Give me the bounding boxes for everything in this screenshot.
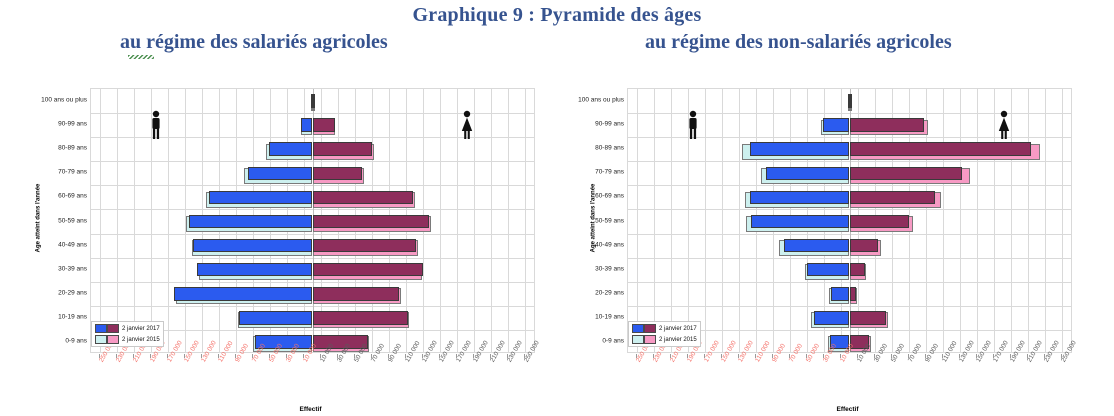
- bar-row: [91, 282, 534, 306]
- bar-male-2017: [750, 142, 850, 155]
- bar-row: [628, 282, 1071, 306]
- y-axis-label: 90-99 ans: [595, 121, 624, 128]
- bar-row: [628, 209, 1071, 233]
- x-axis-title: Effectif: [837, 406, 859, 413]
- y-axis-label: 100 ans ou plus: [578, 97, 624, 104]
- bar-female-2017: [313, 215, 430, 228]
- bar-female-2017: [313, 239, 417, 252]
- bar-female-2017: [850, 118, 925, 131]
- male-figure-icon: [685, 110, 701, 140]
- bar-female-2017: [313, 118, 335, 131]
- bar-female-2017: [850, 287, 857, 300]
- y-axis-label: 20-29 ans: [595, 289, 624, 296]
- legend-swatch: [95, 324, 119, 333]
- legend-item[interactable]: 2 janvier 2015: [95, 335, 160, 344]
- bar-male-2017: [248, 167, 313, 180]
- y-axis-label: 30-39 ans: [595, 265, 624, 272]
- bar-female-2017: [850, 142, 1031, 155]
- chart-panel-non-salaries: 100 ans ou plus90-99 ans80-89 ans70-79 a…: [557, 78, 1114, 416]
- bar-female-2017: [850, 239, 879, 252]
- y-axis-label: 80-89 ans: [595, 145, 624, 152]
- y-axis-label: 30-39 ans: [58, 265, 87, 272]
- x-axis-title: Effectif: [300, 406, 322, 413]
- y-axis-label: 50-59 ans: [58, 217, 87, 224]
- bar-female-2017: [850, 263, 865, 276]
- male-figure-icon: [148, 110, 164, 140]
- bar-male-2017: [751, 215, 850, 228]
- bar-male-2017: [209, 191, 313, 204]
- legend-label: 2 janvier 2015: [122, 337, 160, 343]
- bar-male-2017: [269, 142, 312, 155]
- y-axis-label: 60-69 ans: [58, 193, 87, 200]
- bar-female-2017: [313, 191, 414, 204]
- bar-row: [91, 137, 534, 161]
- y-axis-label: 0-9 ans: [65, 337, 87, 344]
- bar-female-2017: [850, 94, 852, 107]
- legend-item[interactable]: 2 janvier 2017: [95, 324, 160, 333]
- bar-row: [91, 185, 534, 209]
- legend-swatch: [95, 335, 119, 344]
- bar-male-2017: [197, 263, 312, 276]
- bar-male-2017: [239, 311, 312, 324]
- bar-female-2017: [850, 215, 910, 228]
- spellcheck-squiggle: [128, 55, 154, 59]
- female-figure-icon: [996, 110, 1012, 140]
- bar-male-2017: [807, 263, 850, 276]
- bar-female-2017: [313, 167, 362, 180]
- chart-title-block: Graphique 9 : Pyramide des âges au régim…: [0, 4, 1114, 59]
- bar-male-2017: [823, 118, 849, 131]
- bar-male-2017: [301, 118, 313, 131]
- bar-row: [91, 234, 534, 258]
- bar-male-2017: [814, 311, 850, 324]
- y-axis-label: 70-79 ans: [58, 169, 87, 176]
- bar-female-2017: [313, 311, 408, 324]
- chart-legend[interactable]: 2 janvier 20172 janvier 2015: [91, 321, 164, 347]
- subtitle-row: au régime des salariés agricoles au régi…: [0, 31, 1114, 59]
- chart-panel-salaries: 100 ans ou plus90-99 ans80-89 ans70-79 a…: [0, 78, 557, 416]
- bar-female-2017: [850, 191, 935, 204]
- y-axis-label: 20-29 ans: [58, 289, 87, 296]
- y-axis-title: Age atteint dans l'année: [590, 183, 596, 252]
- y-axis-title: Age atteint dans l'année: [35, 183, 41, 252]
- y-axis-label: 80-89 ans: [58, 145, 87, 152]
- bar-female-2017: [850, 167, 962, 180]
- y-axis-label: 10-19 ans: [595, 313, 624, 320]
- y-axis-label: 60-69 ans: [595, 193, 624, 200]
- bar-male-2017: [189, 215, 313, 228]
- bar-female-2017: [313, 142, 373, 155]
- bar-male-2017: [193, 239, 312, 252]
- subtitle-left: au régime des salariés agricoles: [120, 31, 388, 54]
- y-axis-label: 10-19 ans: [58, 313, 87, 320]
- bar-female-2017: [850, 311, 887, 324]
- y-axis-label: 90-99 ans: [58, 121, 87, 128]
- bar-row: [91, 161, 534, 185]
- bar-male-2017: [831, 287, 850, 300]
- bar-row: [628, 137, 1071, 161]
- bar-male-2017: [784, 239, 850, 252]
- legend-item[interactable]: 2 janvier 2015: [632, 335, 697, 344]
- y-axis-label: 0-9 ans: [602, 337, 624, 344]
- y-axis-label: 50-59 ans: [595, 217, 624, 224]
- bar-row: [91, 258, 534, 282]
- legend-label: 2 janvier 2015: [659, 337, 697, 343]
- y-axis-label: 40-49 ans: [595, 241, 624, 248]
- female-figure-icon: [459, 110, 475, 140]
- bar-row: [628, 258, 1071, 282]
- legend-swatch: [632, 324, 656, 333]
- bar-row: [628, 161, 1071, 185]
- legend-label: 2 janvier 2017: [659, 326, 697, 332]
- subtitle-right: au régime des non-salariés agricoles: [645, 31, 952, 54]
- bar-row: [91, 209, 534, 233]
- bar-female-2017: [313, 263, 424, 276]
- bar-male-2017: [750, 191, 850, 204]
- bar-female-2017: [313, 94, 315, 107]
- chart-legend[interactable]: 2 janvier 20172 janvier 2015: [628, 321, 701, 347]
- legend-swatch: [632, 335, 656, 344]
- bar-male-2017: [174, 287, 312, 300]
- bar-row: [628, 234, 1071, 258]
- page-title: Graphique 9 : Pyramide des âges: [0, 4, 1114, 27]
- bar-male-2017: [766, 167, 849, 180]
- bar-female-2017: [313, 287, 400, 300]
- y-axis-label: 70-79 ans: [595, 169, 624, 176]
- legend-item[interactable]: 2 janvier 2017: [632, 324, 697, 333]
- y-axis-label: 40-49 ans: [58, 241, 87, 248]
- bar-row: [628, 185, 1071, 209]
- legend-label: 2 janvier 2017: [122, 326, 160, 332]
- y-axis-label: 100 ans ou plus: [41, 97, 87, 104]
